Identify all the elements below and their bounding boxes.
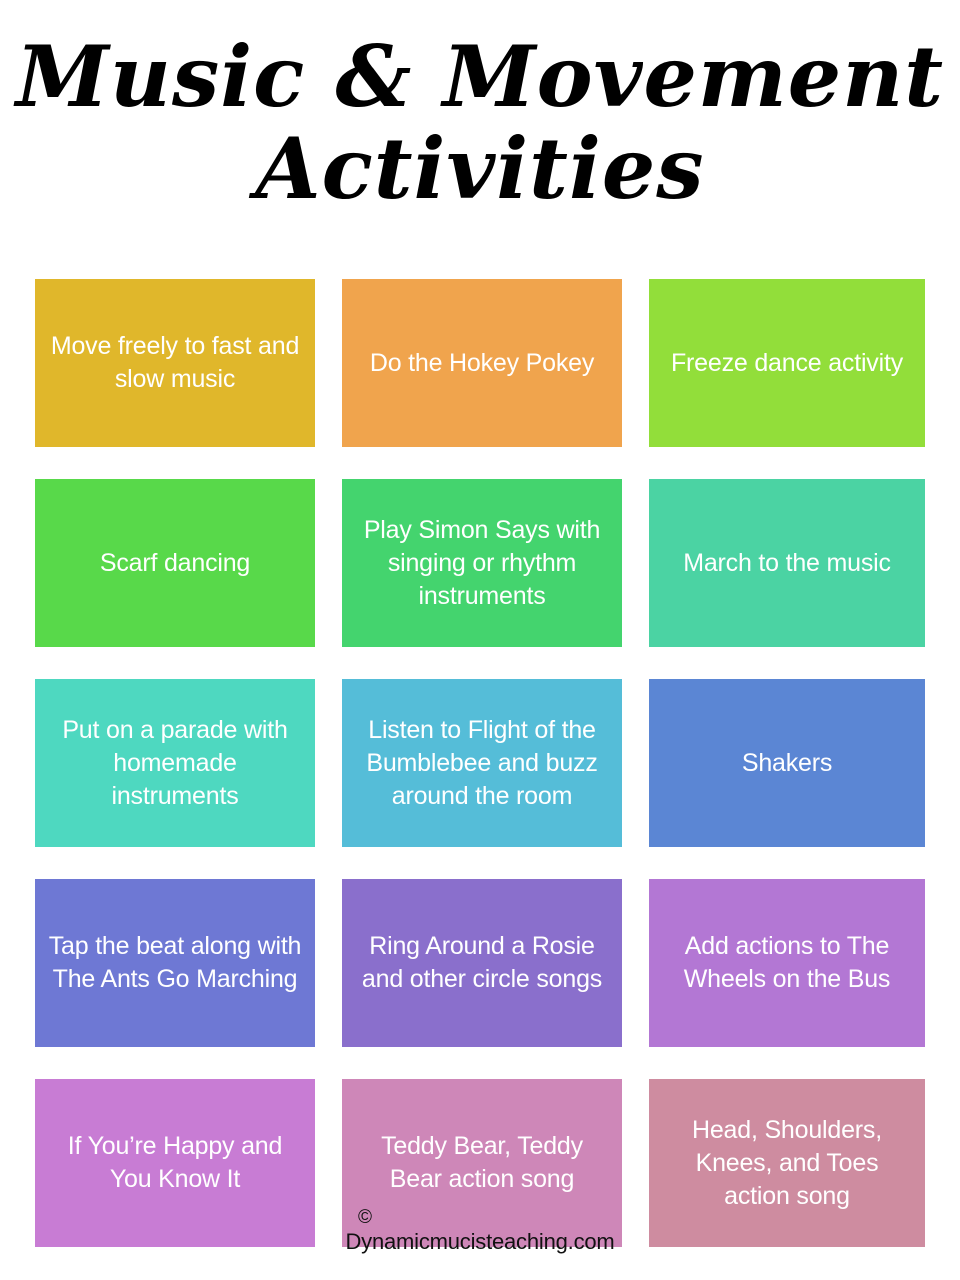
activity-cell-label: Scarf dancing [100,547,250,580]
activity-cell-label: Listen to Flight of the Bumblebee and bu… [354,714,610,813]
activity-cell: Freeze dance activity [649,279,925,447]
activity-grid: Move freely to fast and slow musicDo the… [35,279,925,1247]
activity-cell: Tap the beat along with The Ants Go Marc… [35,879,315,1047]
activity-cell: March to the music [649,479,925,647]
activity-cell-label: Move freely to fast and slow music [47,330,303,396]
activity-cell: Put on a parade with homemade instrument… [35,679,315,847]
activity-cell-label: Play Simon Says with singing or rhythm i… [354,514,610,613]
activity-cell: Listen to Flight of the Bumblebee and bu… [342,679,622,847]
activity-cell-label: If You’re Happy and You Know It [47,1130,303,1196]
activity-cell-label: Tap the beat along with The Ants Go Marc… [47,930,303,996]
activity-cell: Play Simon Says with singing or rhythm i… [342,479,622,647]
activity-cell-label: March to the music [683,547,891,580]
activity-cell-label: Put on a parade with homemade instrument… [47,714,303,813]
footer: © Dynamicmucisteaching.com [0,1208,960,1254]
activity-cell: Scarf dancing [35,479,315,647]
activity-cell-label: Shakers [742,747,832,780]
activity-cell-label: Ring Around a Rosie and other circle son… [354,930,610,996]
activity-cell-label: Add actions to The Wheels on the Bus [661,930,913,996]
activity-cell: Shakers [649,679,925,847]
copyright-icon: © [0,1208,960,1227]
footer-website: Dynamicmucisteaching.com [0,1230,960,1254]
page-title: Music & Movement Activities [0,0,960,211]
activity-cell: Move freely to fast and slow music [35,279,315,447]
activity-cell-label: Head, Shoulders, Knees, and Toes action … [661,1114,913,1213]
activity-cell-label: Do the Hokey Pokey [370,347,594,380]
activity-cell: Ring Around a Rosie and other circle son… [342,879,622,1047]
page-title-line-1: Music & Movement [0,34,960,120]
activity-cell: Add actions to The Wheels on the Bus [649,879,925,1047]
activity-cell-label: Freeze dance activity [671,347,903,380]
page-title-line-2: Activities [0,126,960,212]
activity-cell-label: Teddy Bear, Teddy Bear action song [354,1130,610,1196]
activity-cell: Do the Hokey Pokey [342,279,622,447]
